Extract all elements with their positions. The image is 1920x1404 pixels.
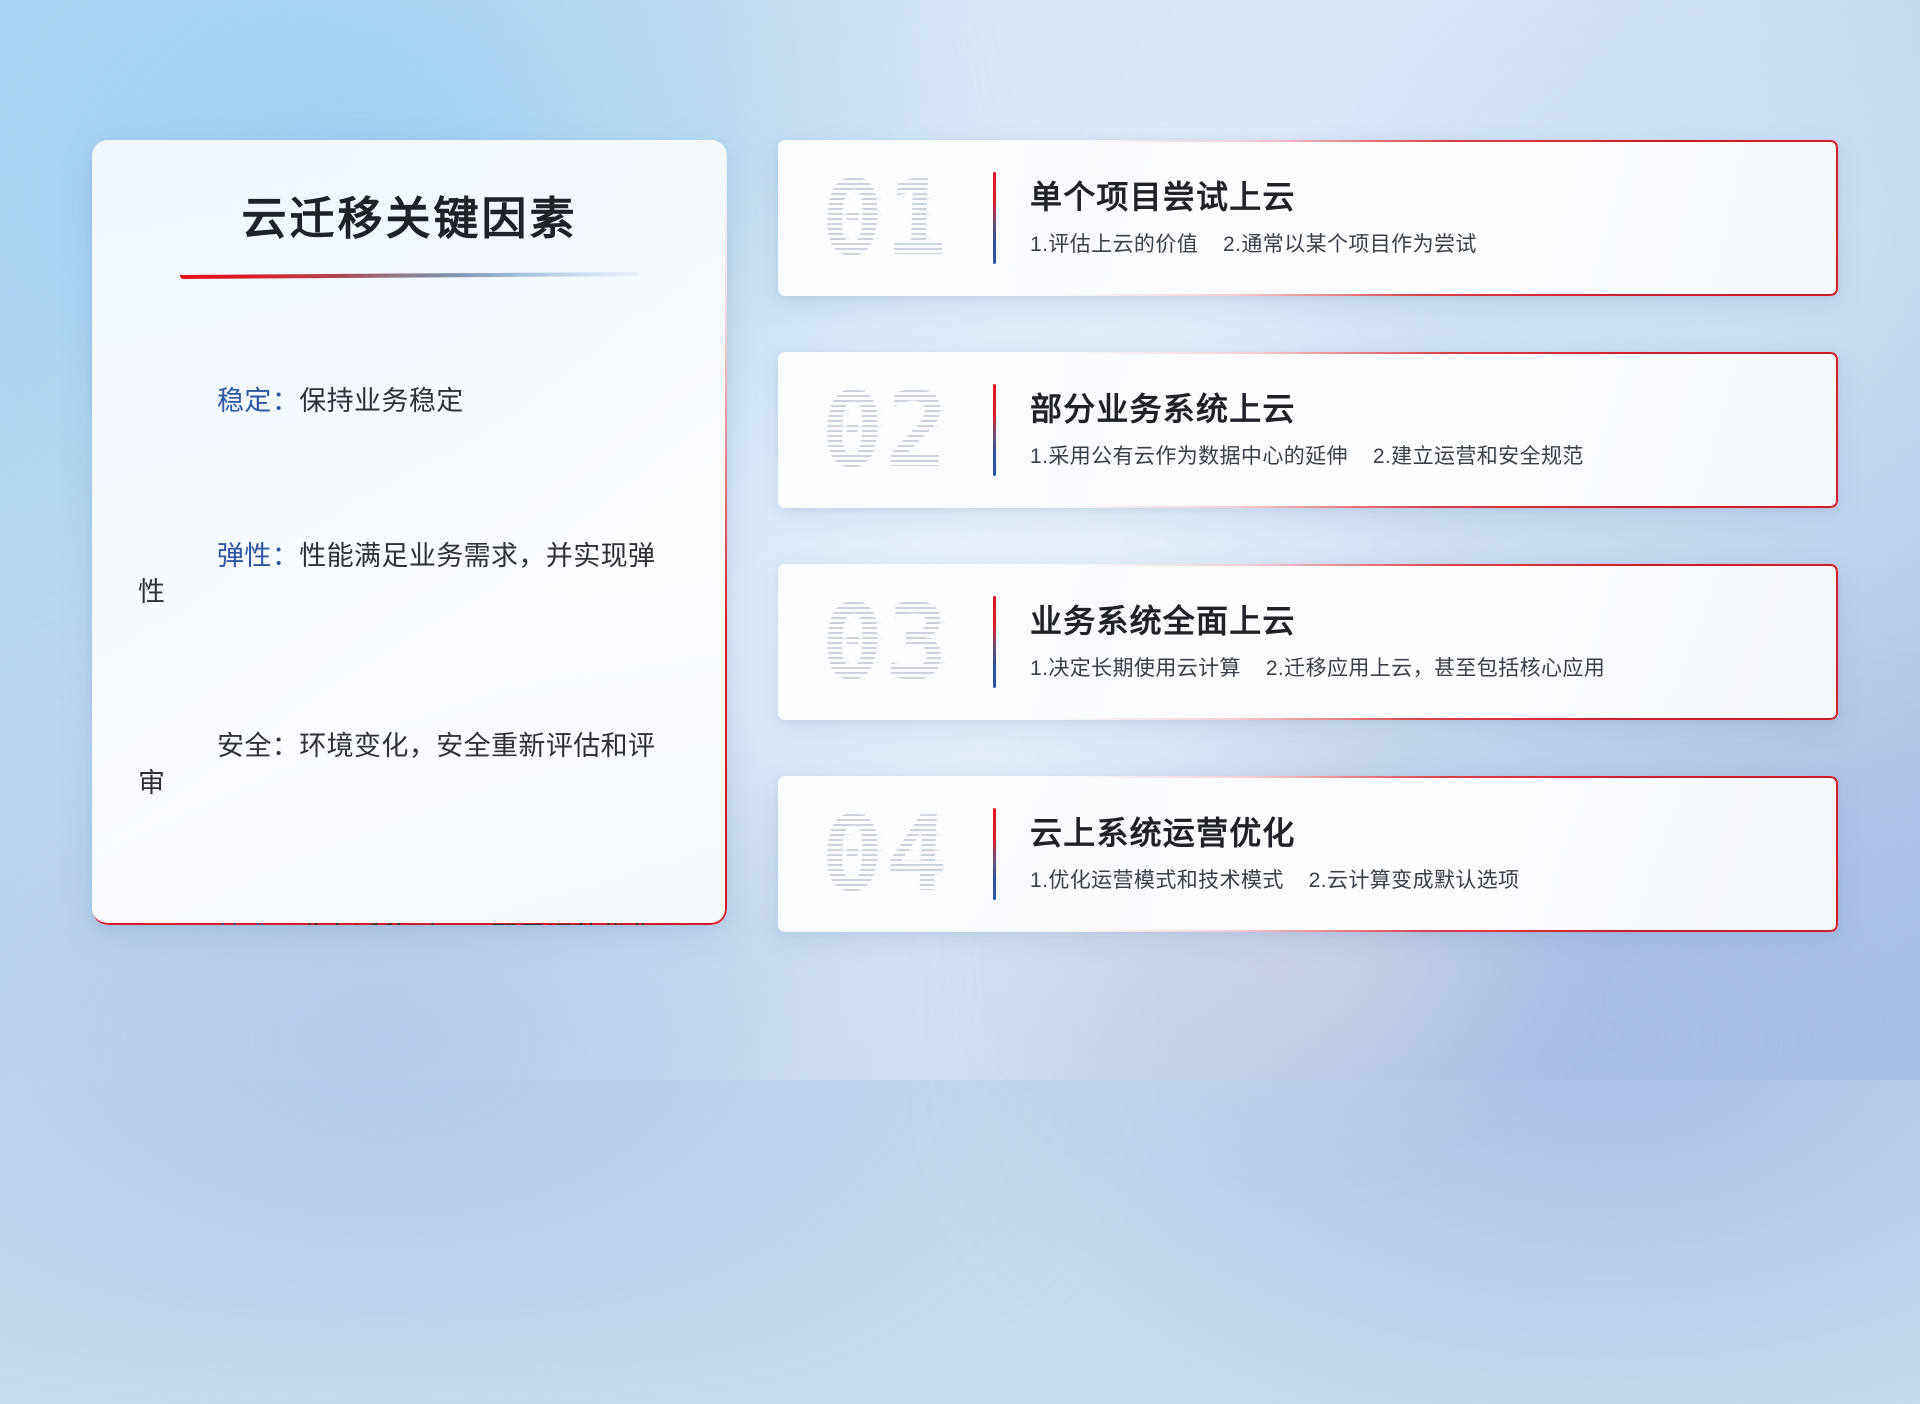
stage-number-badge: 03: [778, 590, 993, 694]
list-item: 弹性：性能满足业务需求，并实现弹性: [138, 502, 681, 647]
factor-label: 稳定：: [217, 386, 299, 416]
stage-number-badge: 01: [778, 166, 993, 270]
factor-text: 保持业务稳定: [299, 386, 463, 416]
stage-number: 04: [819, 802, 952, 906]
stage-number: 03: [819, 590, 952, 694]
factor-label: 安全：: [217, 731, 299, 761]
stage-card[interactable]: 02 部分业务系统上云 1.采用公有云作为数据中心的延伸 2.建立运营和安全规范: [778, 352, 1838, 508]
list-item: 稳定：保持业务稳定: [138, 347, 681, 456]
stage-title: 单个项目尝试上云: [1030, 177, 1810, 217]
factor-text: 业务迁移到云，配置调整优化: [299, 922, 655, 925]
stage-card[interactable]: 01 单个项目尝试上云 1.评估上云的价值 2.通常以某个项目作为尝试: [778, 140, 1838, 296]
title-underline-rule: [180, 272, 640, 279]
stage-number-badge: 02: [778, 378, 993, 482]
page-title: 云迁移关键因素: [138, 192, 681, 246]
stage-card[interactable]: 04 云上系统运营优化 1.优化运营模式和技术模式 2.云计算变成默认选项: [778, 776, 1838, 932]
list-item: 技术：业务迁移到云，配置调整优化: [138, 883, 681, 925]
factor-label: 技术：: [217, 922, 299, 925]
stage-card-body: 单个项目尝试上云 1.评估上云的价值 2.通常以某个项目作为尝试: [996, 177, 1838, 258]
key-factors-list: 稳定：保持业务稳定 弹性：性能满足业务需求，并实现弹性 安全：环境变化，安全重新…: [138, 347, 681, 925]
factor-text: 性能满足业务需求，并实现弹性: [138, 541, 655, 607]
list-item: 安全：环境变化，安全重新评估和评审: [138, 692, 681, 837]
stage-card-body: 云上系统运营优化 1.优化运营模式和技术模式 2.云计算变成默认选项: [996, 813, 1838, 894]
slide-stage: 云迁移关键因素 稳定：保持业务稳定 弹性：性能满足业务需求，并实现弹性 安全：环…: [0, 0, 1920, 1080]
stage-title: 业务系统全面上云: [1030, 601, 1810, 641]
stage-number: 02: [819, 378, 952, 482]
stage-description: 1.评估上云的价值 2.通常以某个项目作为尝试: [1030, 231, 1810, 258]
stage-card[interactable]: 03 业务系统全面上云 1.决定长期使用云计算 2.迁移应用上云，甚至包括核心应…: [778, 564, 1838, 720]
stage-number: 01: [819, 166, 952, 270]
key-factors-panel: 云迁移关键因素 稳定：保持业务稳定 弹性：性能满足业务需求，并实现弹性 安全：环…: [92, 140, 727, 925]
stage-description: 1.采用公有云作为数据中心的延伸 2.建立运营和安全规范: [1030, 443, 1810, 470]
factor-label: 弹性：: [217, 541, 299, 571]
stage-description: 1.优化运营模式和技术模式 2.云计算变成默认选项: [1030, 867, 1810, 894]
stage-card-body: 部分业务系统上云 1.采用公有云作为数据中心的延伸 2.建立运营和安全规范: [996, 389, 1838, 470]
migration-stage-cards: 01 单个项目尝试上云 1.评估上云的价值 2.通常以某个项目作为尝试 02 部…: [778, 140, 1838, 932]
stage-number-badge: 04: [778, 802, 993, 906]
stage-title: 部分业务系统上云: [1030, 389, 1810, 429]
stage-card-body: 业务系统全面上云 1.决定长期使用云计算 2.迁移应用上云，甚至包括核心应用: [996, 601, 1838, 682]
stage-title: 云上系统运营优化: [1030, 813, 1810, 853]
factor-text: 环境变化，安全重新评估和评审: [138, 731, 655, 797]
stage-description: 1.决定长期使用云计算 2.迁移应用上云，甚至包括核心应用: [1030, 655, 1810, 682]
key-factors-panel-content: 云迁移关键因素 稳定：保持业务稳定 弹性：性能满足业务需求，并实现弹性 安全：环…: [92, 140, 727, 925]
